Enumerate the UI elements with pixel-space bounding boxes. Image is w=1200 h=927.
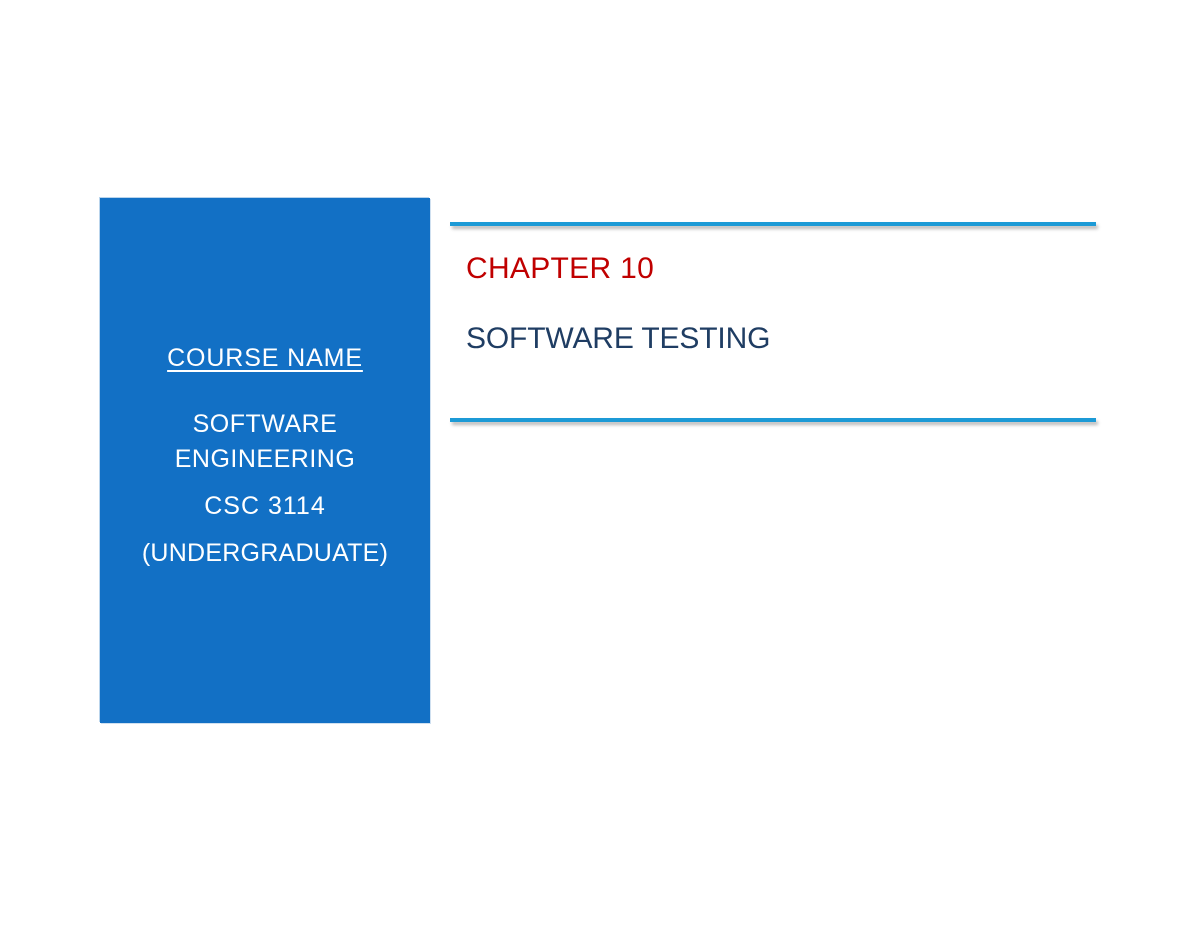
presentation-slide: COURSE NAME SOFTWARE ENGINEERING CSC 311… <box>0 0 1200 927</box>
course-title-line-2: ENGINEERING <box>175 447 356 472</box>
course-title-line-1: SOFTWARE <box>193 412 338 437</box>
course-name-heading: COURSE NAME <box>167 346 363 371</box>
course-level: (UNDERGRADUATE) <box>142 541 388 566</box>
slide-title-block: CHAPTER 10 SOFTWARE TESTING <box>450 222 1096 424</box>
title-bottom-rule <box>450 418 1096 422</box>
title-top-rule <box>450 222 1096 226</box>
chapter-label: CHAPTER 10 <box>466 254 654 284</box>
course-code: CSC 3114 <box>204 494 326 519</box>
page-title: SOFTWARE TESTING <box>466 324 770 354</box>
course-info-panel: COURSE NAME SOFTWARE ENGINEERING CSC 311… <box>100 198 430 723</box>
